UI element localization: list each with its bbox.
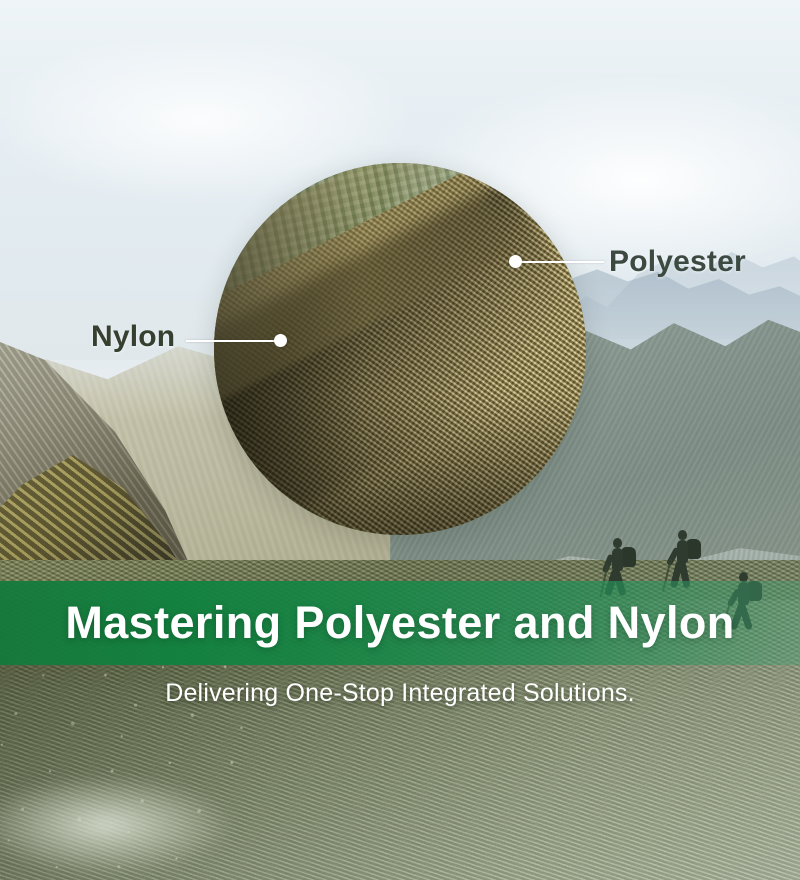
hiker-backpack bbox=[621, 547, 636, 567]
nylon-leader-line bbox=[186, 340, 281, 342]
hiker-head bbox=[613, 538, 622, 548]
page-title: Mastering Polyester and Nylon bbox=[0, 597, 800, 649]
hiker-torso bbox=[612, 548, 623, 571]
polyester-marker-dot bbox=[509, 255, 522, 268]
fabric-closeup-circle bbox=[214, 163, 586, 535]
hiker-backpack bbox=[686, 539, 701, 559]
terrain-bokeh-highlight bbox=[0, 760, 270, 880]
page-subtitle: Delivering One-Stop Integrated Solutions… bbox=[0, 679, 800, 708]
nylon-marker-dot bbox=[274, 334, 287, 347]
polyester-leader-line bbox=[516, 261, 604, 263]
circle-bottom-vignette bbox=[214, 395, 586, 535]
circle-backdrop bbox=[214, 163, 586, 535]
hiker-head bbox=[678, 530, 687, 540]
nylon-label: Nylon bbox=[91, 320, 175, 354]
hero-banner: Nylon Polyester Mastering Polyester and … bbox=[0, 0, 800, 880]
polyester-label: Polyester bbox=[609, 245, 746, 279]
